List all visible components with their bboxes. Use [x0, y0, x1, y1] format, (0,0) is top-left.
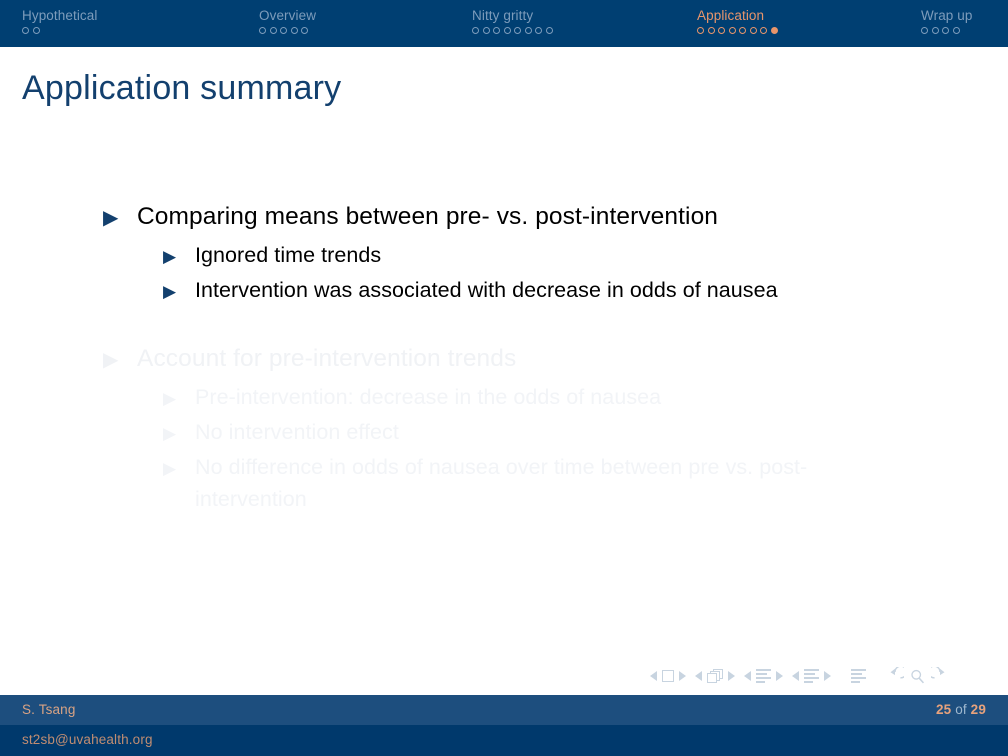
nav-section-label: Nitty gritty	[472, 8, 553, 23]
nav-dot[interactable]	[953, 27, 960, 34]
current-page-number: 25	[936, 702, 951, 717]
previous-frame-icon[interactable]	[695, 671, 702, 681]
previous-slide-icon[interactable]	[650, 671, 657, 681]
bullet-level1-text: Account for pre-intervention trends	[137, 342, 516, 376]
next-frame-icon[interactable]	[728, 671, 735, 681]
previous-subsection-icon[interactable]	[744, 671, 751, 681]
footer-email[interactable]: st2sb@uvahealth.org	[22, 731, 153, 749]
triangle-bullet-icon: ▶	[163, 418, 195, 450]
bullet-level2-text: Ignored time trends	[195, 239, 381, 271]
nav-section-label-active: Application	[697, 8, 778, 23]
bullet-level2-dimmed: ▶ No intervention effect	[0, 416, 1008, 450]
nav-dot[interactable]	[270, 27, 277, 34]
nav-section-label: Hypothetical	[22, 8, 98, 23]
bullet-level2-text: Intervention was associated with decreas…	[195, 274, 778, 306]
page-title: Application summary	[22, 66, 341, 110]
back-circular-arrow-icon[interactable]	[886, 667, 904, 685]
nav-dot[interactable]	[739, 27, 746, 34]
header-navigation-bar: Hypothetical Overview Nitty gritty	[0, 0, 1008, 47]
slide-square-icon[interactable]	[662, 670, 674, 682]
forward-circular-arrow-icon[interactable]	[931, 667, 949, 685]
nav-dot[interactable]	[301, 27, 308, 34]
nav-dot[interactable]	[718, 27, 725, 34]
nav-dot[interactable]	[729, 27, 736, 34]
presentation-lines-icon[interactable]	[851, 669, 866, 683]
nav-section-overview[interactable]: Overview	[259, 8, 316, 34]
frame-navigation-group	[695, 669, 735, 683]
nav-section-dots	[22, 27, 98, 34]
nav-dot[interactable]	[504, 27, 511, 34]
bullet-level2-text: No difference in odds of nausea over tim…	[195, 451, 910, 515]
nav-dot[interactable]	[514, 27, 521, 34]
bullet-level2-text: Pre-intervention: decrease in the odds o…	[195, 381, 661, 413]
nav-section-wrap-up[interactable]: Wrap up	[921, 8, 972, 34]
bullet-level1-dimmed: ▶ Account for pre-intervention trends	[0, 342, 1008, 377]
nav-dot[interactable]	[291, 27, 298, 34]
nav-section-dots	[921, 27, 972, 34]
nav-dot[interactable]	[535, 27, 542, 34]
subsection-lines-icon[interactable]	[756, 669, 771, 683]
beamer-navigation-symbols	[650, 664, 1002, 688]
bullet-level2: ▶ Intervention was associated with decre…	[0, 274, 1008, 308]
bullet-level2-dimmed: ▶ No difference in odds of nausea over t…	[0, 451, 1008, 515]
stacked-squares-icon[interactable]	[707, 669, 723, 683]
nav-dot[interactable]	[22, 27, 29, 34]
nav-dot[interactable]	[483, 27, 490, 34]
content-block-account-trends: ▶ Account for pre-intervention trends ▶ …	[0, 342, 1008, 515]
footer-top-bar	[0, 695, 1008, 725]
page-of-word: of	[955, 702, 967, 717]
next-section-icon[interactable]	[824, 671, 831, 681]
nav-dot[interactable]	[921, 27, 928, 34]
nav-section-application[interactable]: Application	[697, 8, 778, 34]
bullet-level1: ▶ Comparing means between pre- vs. post-…	[0, 200, 1008, 235]
nav-dot[interactable]	[259, 27, 266, 34]
nav-dot[interactable]	[472, 27, 479, 34]
subsection-navigation-group	[744, 669, 783, 683]
nav-dot[interactable]	[942, 27, 949, 34]
footer-author: S. Tsang	[22, 701, 76, 719]
nav-section-hypothetical[interactable]: Hypothetical	[22, 8, 98, 34]
triangle-bullet-icon: ▶	[103, 201, 137, 235]
nav-section-label: Overview	[259, 8, 316, 23]
block-spacer	[0, 310, 1008, 342]
bullet-level1-text: Comparing means between pre- vs. post-in…	[137, 200, 718, 234]
nav-dot[interactable]	[280, 27, 287, 34]
bullet-level2: ▶ Ignored time trends	[0, 239, 1008, 273]
nav-section-nitty-gritty[interactable]: Nitty gritty	[472, 8, 553, 34]
nav-dot[interactable]	[546, 27, 553, 34]
bullet-level2-dimmed: ▶ Pre-intervention: decrease in the odds…	[0, 381, 1008, 415]
nav-dot[interactable]	[493, 27, 500, 34]
section-navigation-group	[792, 669, 831, 683]
previous-section-icon[interactable]	[792, 671, 799, 681]
nav-section-dots	[697, 27, 778, 34]
nav-dot[interactable]	[697, 27, 704, 34]
presentation-navigation-group	[851, 669, 866, 683]
nav-section-dots	[472, 27, 553, 34]
search-icon[interactable]	[909, 668, 926, 685]
total-page-number: 29	[971, 702, 986, 717]
footer-page-counter: 25 of 29	[936, 701, 986, 719]
nav-dot[interactable]	[750, 27, 757, 34]
triangle-bullet-icon: ▶	[163, 453, 195, 485]
triangle-bullet-icon: ▶	[163, 276, 195, 308]
nav-section-label: Wrap up	[921, 8, 972, 23]
nav-dot[interactable]	[932, 27, 939, 34]
nav-dot[interactable]	[33, 27, 40, 34]
nav-dot[interactable]	[708, 27, 715, 34]
history-navigation-group	[886, 667, 949, 685]
triangle-bullet-icon: ▶	[103, 343, 137, 377]
nav-section-dots	[259, 27, 316, 34]
next-subsection-icon[interactable]	[776, 671, 783, 681]
next-slide-icon[interactable]	[679, 671, 686, 681]
triangle-bullet-icon: ▶	[163, 241, 195, 273]
nav-dot-current[interactable]	[771, 27, 778, 34]
nav-dot[interactable]	[525, 27, 532, 34]
slide-content: ▶ Comparing means between pre- vs. post-…	[0, 200, 1008, 517]
section-lines-icon[interactable]	[804, 669, 819, 683]
content-block-comparing-means: ▶ Comparing means between pre- vs. post-…	[0, 200, 1008, 308]
slide-navigation-group	[650, 670, 686, 682]
nav-dot[interactable]	[760, 27, 767, 34]
triangle-bullet-icon: ▶	[163, 383, 195, 415]
bullet-level2-text: No intervention effect	[195, 416, 399, 448]
